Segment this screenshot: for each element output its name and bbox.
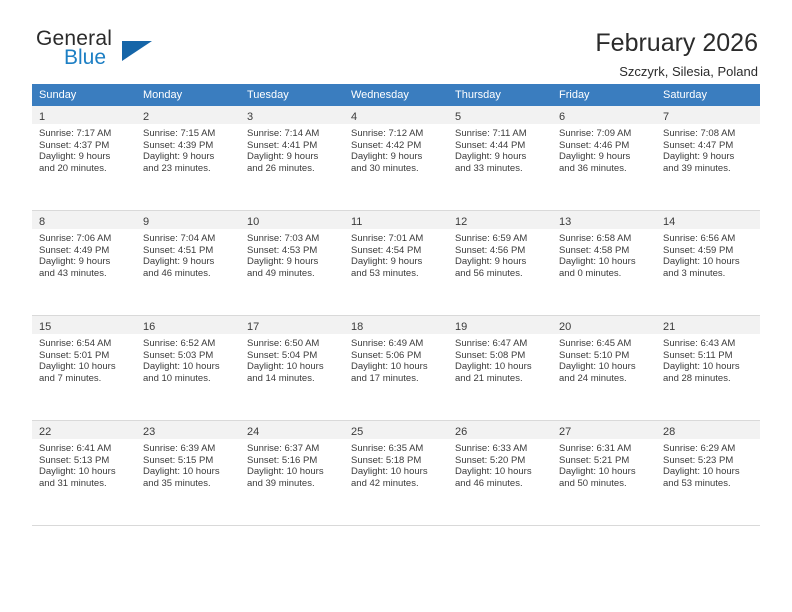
daylight-text-line2: and 30 minutes. (351, 163, 442, 175)
day-cell[interactable]: 22 Sunrise: 6:41 AM Sunset: 5:13 PM Dayl… (32, 421, 136, 526)
sunset-text: Sunset: 5:18 PM (351, 455, 442, 467)
sunrise-text: Sunrise: 7:03 AM (247, 233, 338, 245)
sunrise-text: Sunrise: 6:59 AM (455, 233, 546, 245)
day-number: 8 (39, 215, 130, 230)
calendar-table: Sunday Monday Tuesday Wednesday Thursday… (32, 84, 760, 526)
daylight-text-line2: and 7 minutes. (39, 373, 130, 385)
daylight-text-line1: Daylight: 10 hours (351, 361, 442, 373)
sunset-text: Sunset: 5:03 PM (143, 350, 234, 362)
sunset-text: Sunset: 5:21 PM (559, 455, 650, 467)
day-cell[interactable]: 17 Sunrise: 6:50 AM Sunset: 5:04 PM Dayl… (240, 316, 344, 421)
daylight-text-line2: and 39 minutes. (663, 163, 754, 175)
daylight-text-line1: Daylight: 10 hours (559, 361, 650, 373)
sunrise-text: Sunrise: 6:33 AM (455, 443, 546, 455)
daylight-text-line1: Daylight: 10 hours (143, 466, 234, 478)
sunset-text: Sunset: 5:11 PM (663, 350, 754, 362)
daylight-text-line2: and 46 minutes. (143, 268, 234, 280)
day-cell[interactable]: 1 Sunrise: 7:17 AM Sunset: 4:37 PM Dayli… (32, 106, 136, 211)
calendar-week-row: 22 Sunrise: 6:41 AM Sunset: 5:13 PM Dayl… (32, 421, 760, 526)
sunrise-text: Sunrise: 6:50 AM (247, 338, 338, 350)
calendar-week-row: 15 Sunrise: 6:54 AM Sunset: 5:01 PM Dayl… (32, 316, 760, 421)
sunrise-text: Sunrise: 7:14 AM (247, 128, 338, 140)
daylight-text-line2: and 3 minutes. (663, 268, 754, 280)
calendar-header-row: Sunday Monday Tuesday Wednesday Thursday… (32, 84, 760, 106)
daylight-text-line1: Daylight: 10 hours (39, 466, 130, 478)
day-cell[interactable]: 10 Sunrise: 7:03 AM Sunset: 4:53 PM Dayl… (240, 211, 344, 316)
day-number: 24 (247, 425, 338, 440)
day-number: 11 (351, 215, 442, 230)
sunset-text: Sunset: 5:06 PM (351, 350, 442, 362)
calendar-week-row: 8 Sunrise: 7:06 AM Sunset: 4:49 PM Dayli… (32, 211, 760, 316)
day-cell[interactable]: 19 Sunrise: 6:47 AM Sunset: 5:08 PM Dayl… (448, 316, 552, 421)
daylight-text-line2: and 36 minutes. (559, 163, 650, 175)
daylight-text-line1: Daylight: 10 hours (247, 361, 338, 373)
daylight-text-line2: and 53 minutes. (351, 268, 442, 280)
day-number: 26 (455, 425, 546, 440)
weekday-header-monday: Monday (136, 84, 240, 106)
sunrise-text: Sunrise: 7:11 AM (455, 128, 546, 140)
daylight-text-line1: Daylight: 10 hours (663, 256, 754, 268)
day-cell[interactable]: 20 Sunrise: 6:45 AM Sunset: 5:10 PM Dayl… (552, 316, 656, 421)
sunrise-text: Sunrise: 6:29 AM (663, 443, 754, 455)
day-number: 28 (663, 425, 754, 440)
sunrise-text: Sunrise: 7:06 AM (39, 233, 130, 245)
sunrise-text: Sunrise: 7:17 AM (39, 128, 130, 140)
sunset-text: Sunset: 4:39 PM (143, 140, 234, 152)
daylight-text-line1: Daylight: 10 hours (455, 466, 546, 478)
daylight-text-line1: Daylight: 10 hours (663, 361, 754, 373)
daylight-text-line2: and 26 minutes. (247, 163, 338, 175)
daylight-text-line2: and 49 minutes. (247, 268, 338, 280)
daylight-text-line1: Daylight: 10 hours (559, 256, 650, 268)
day-cell[interactable]: 23 Sunrise: 6:39 AM Sunset: 5:15 PM Dayl… (136, 421, 240, 526)
calendar-body: 1 Sunrise: 7:17 AM Sunset: 4:37 PM Dayli… (32, 106, 760, 526)
daylight-text-line2: and 50 minutes. (559, 478, 650, 490)
sunrise-text: Sunrise: 6:43 AM (663, 338, 754, 350)
sunrise-text: Sunrise: 6:37 AM (247, 443, 338, 455)
day-number: 15 (39, 320, 130, 335)
day-cell[interactable]: 9 Sunrise: 7:04 AM Sunset: 4:51 PM Dayli… (136, 211, 240, 316)
sunrise-text: Sunrise: 6:56 AM (663, 233, 754, 245)
weekday-header-sunday: Sunday (32, 84, 136, 106)
triangle-logo-icon (122, 41, 152, 61)
daylight-text-line2: and 39 minutes. (247, 478, 338, 490)
day-number: 2 (143, 110, 234, 125)
calendar-week-row: 1 Sunrise: 7:17 AM Sunset: 4:37 PM Dayli… (32, 106, 760, 211)
title-block: February 2026 Szczyrk, Silesia, Poland (595, 28, 760, 82)
sunrise-text: Sunrise: 7:15 AM (143, 128, 234, 140)
daylight-text-line2: and 28 minutes. (663, 373, 754, 385)
day-number: 12 (455, 215, 546, 230)
sunset-text: Sunset: 4:53 PM (247, 245, 338, 257)
sunrise-text: Sunrise: 6:45 AM (559, 338, 650, 350)
day-number: 3 (247, 110, 338, 125)
daylight-text-line1: Daylight: 9 hours (351, 256, 442, 268)
day-cell[interactable]: 14 Sunrise: 6:56 AM Sunset: 4:59 PM Dayl… (656, 211, 760, 316)
day-number: 22 (39, 425, 130, 440)
day-number: 25 (351, 425, 442, 440)
day-number: 9 (143, 215, 234, 230)
daylight-text-line2: and 24 minutes. (559, 373, 650, 385)
daylight-text-line1: Daylight: 9 hours (39, 256, 130, 268)
day-number: 6 (559, 110, 650, 125)
sunrise-text: Sunrise: 6:31 AM (559, 443, 650, 455)
day-cell[interactable]: 26 Sunrise: 6:33 AM Sunset: 5:20 PM Dayl… (448, 421, 552, 526)
day-cell[interactable]: 12 Sunrise: 6:59 AM Sunset: 4:56 PM Dayl… (448, 211, 552, 316)
daylight-text-line1: Daylight: 9 hours (559, 151, 650, 163)
daylight-text-line1: Daylight: 9 hours (39, 151, 130, 163)
sunset-text: Sunset: 4:54 PM (351, 245, 442, 257)
sunset-text: Sunset: 5:20 PM (455, 455, 546, 467)
day-cell[interactable]: 27 Sunrise: 6:31 AM Sunset: 5:21 PM Dayl… (552, 421, 656, 526)
page-subtitle: Szczyrk, Silesia, Poland (595, 62, 758, 82)
day-number: 10 (247, 215, 338, 230)
sunset-text: Sunset: 4:58 PM (559, 245, 650, 257)
day-number: 17 (247, 320, 338, 335)
daylight-text-line1: Daylight: 9 hours (455, 151, 546, 163)
sunset-text: Sunset: 5:15 PM (143, 455, 234, 467)
daylight-text-line2: and 56 minutes. (455, 268, 546, 280)
day-number: 27 (559, 425, 650, 440)
daylight-text-line2: and 35 minutes. (143, 478, 234, 490)
sunset-text: Sunset: 4:46 PM (559, 140, 650, 152)
sunset-text: Sunset: 4:56 PM (455, 245, 546, 257)
sunset-text: Sunset: 4:47 PM (663, 140, 754, 152)
daylight-text-line2: and 33 minutes. (455, 163, 546, 175)
day-cell[interactable]: 16 Sunrise: 6:52 AM Sunset: 5:03 PM Dayl… (136, 316, 240, 421)
sunset-text: Sunset: 5:04 PM (247, 350, 338, 362)
sunset-text: Sunset: 5:10 PM (559, 350, 650, 362)
sunrise-text: Sunrise: 6:49 AM (351, 338, 442, 350)
day-cell[interactable]: 21 Sunrise: 6:43 AM Sunset: 5:11 PM Dayl… (656, 316, 760, 421)
daylight-text-line1: Daylight: 10 hours (39, 361, 130, 373)
day-cell[interactable]: 11 Sunrise: 7:01 AM Sunset: 4:54 PM Dayl… (344, 211, 448, 316)
daylight-text-line2: and 53 minutes. (663, 478, 754, 490)
daylight-text-line1: Daylight: 10 hours (455, 361, 546, 373)
day-number: 7 (663, 110, 754, 125)
daylight-text-line2: and 20 minutes. (39, 163, 130, 175)
day-cell[interactable]: 5 Sunrise: 7:11 AM Sunset: 4:44 PM Dayli… (448, 106, 552, 211)
daylight-text-line1: Daylight: 9 hours (351, 151, 442, 163)
sunrise-text: Sunrise: 6:52 AM (143, 338, 234, 350)
day-number: 23 (143, 425, 234, 440)
sunrise-text: Sunrise: 6:54 AM (39, 338, 130, 350)
day-number: 20 (559, 320, 650, 335)
day-cell[interactable]: 3 Sunrise: 7:14 AM Sunset: 4:41 PM Dayli… (240, 106, 344, 211)
sunrise-text: Sunrise: 6:41 AM (39, 443, 130, 455)
day-cell[interactable]: 24 Sunrise: 6:37 AM Sunset: 5:16 PM Dayl… (240, 421, 344, 526)
sunrise-text: Sunrise: 6:35 AM (351, 443, 442, 455)
weekday-header-thursday: Thursday (448, 84, 552, 106)
day-number: 16 (143, 320, 234, 335)
sunrise-text: Sunrise: 6:39 AM (143, 443, 234, 455)
daylight-text-line1: Daylight: 10 hours (663, 466, 754, 478)
day-number: 21 (663, 320, 754, 335)
sunrise-text: Sunrise: 6:58 AM (559, 233, 650, 245)
daylight-text-line1: Daylight: 9 hours (247, 151, 338, 163)
sunrise-text: Sunrise: 7:12 AM (351, 128, 442, 140)
day-number: 13 (559, 215, 650, 230)
sunrise-text: Sunrise: 7:01 AM (351, 233, 442, 245)
sunset-text: Sunset: 4:41 PM (247, 140, 338, 152)
sunrise-text: Sunrise: 7:04 AM (143, 233, 234, 245)
sunset-text: Sunset: 4:51 PM (143, 245, 234, 257)
page-title: February 2026 (595, 28, 758, 58)
day-cell[interactable]: 8 Sunrise: 7:06 AM Sunset: 4:49 PM Dayli… (32, 211, 136, 316)
calendar-page: General Blue February 2026 Szczyrk, Sile… (0, 0, 792, 612)
daylight-text-line1: Daylight: 9 hours (455, 256, 546, 268)
sunset-text: Sunset: 5:13 PM (39, 455, 130, 467)
day-cell[interactable]: 28 Sunrise: 6:29 AM Sunset: 5:23 PM Dayl… (656, 421, 760, 526)
day-cell[interactable]: 18 Sunrise: 6:49 AM Sunset: 5:06 PM Dayl… (344, 316, 448, 421)
daylight-text-line1: Daylight: 9 hours (143, 256, 234, 268)
daylight-text-line2: and 31 minutes. (39, 478, 130, 490)
day-cell[interactable]: 25 Sunrise: 6:35 AM Sunset: 5:18 PM Dayl… (344, 421, 448, 526)
daylight-text-line1: Daylight: 10 hours (351, 466, 442, 478)
weekday-header-tuesday: Tuesday (240, 84, 344, 106)
sunset-text: Sunset: 4:42 PM (351, 140, 442, 152)
sunset-text: Sunset: 4:49 PM (39, 245, 130, 257)
daylight-text-line2: and 42 minutes. (351, 478, 442, 490)
daylight-text-line2: and 23 minutes. (143, 163, 234, 175)
day-cell[interactable]: 2 Sunrise: 7:15 AM Sunset: 4:39 PM Dayli… (136, 106, 240, 211)
daylight-text-line1: Daylight: 10 hours (559, 466, 650, 478)
day-number: 19 (455, 320, 546, 335)
daylight-text-line2: and 17 minutes. (351, 373, 442, 385)
daylight-text-line1: Daylight: 10 hours (247, 466, 338, 478)
sunrise-text: Sunrise: 7:08 AM (663, 128, 754, 140)
day-cell[interactable]: 15 Sunrise: 6:54 AM Sunset: 5:01 PM Dayl… (32, 316, 136, 421)
daylight-text-line2: and 14 minutes. (247, 373, 338, 385)
weekday-header-saturday: Saturday (656, 84, 760, 106)
sunrise-text: Sunrise: 7:09 AM (559, 128, 650, 140)
day-number: 5 (455, 110, 546, 125)
page-header: General Blue February 2026 Szczyrk, Sile… (32, 0, 760, 72)
sunset-text: Sunset: 5:16 PM (247, 455, 338, 467)
day-cell[interactable]: 4 Sunrise: 7:12 AM Sunset: 4:42 PM Dayli… (344, 106, 448, 211)
sunrise-text: Sunrise: 6:47 AM (455, 338, 546, 350)
daylight-text-line2: and 46 minutes. (455, 478, 546, 490)
daylight-text-line2: and 10 minutes. (143, 373, 234, 385)
sunset-text: Sunset: 4:37 PM (39, 140, 130, 152)
sunset-text: Sunset: 5:08 PM (455, 350, 546, 362)
day-number: 1 (39, 110, 130, 125)
sunset-text: Sunset: 4:44 PM (455, 140, 546, 152)
daylight-text-line1: Daylight: 10 hours (143, 361, 234, 373)
sunset-text: Sunset: 5:23 PM (663, 455, 754, 467)
daylight-text-line1: Daylight: 9 hours (663, 151, 754, 163)
daylight-text-line2: and 43 minutes. (39, 268, 130, 280)
daylight-text-line2: and 21 minutes. (455, 373, 546, 385)
day-number: 14 (663, 215, 754, 230)
day-cell[interactable]: 13 Sunrise: 6:58 AM Sunset: 4:58 PM Dayl… (552, 211, 656, 316)
daylight-text-line1: Daylight: 9 hours (247, 256, 338, 268)
daylight-text-line2: and 0 minutes. (559, 268, 650, 280)
sunset-text: Sunset: 5:01 PM (39, 350, 130, 362)
brand-logo[interactable]: General Blue (32, 28, 216, 68)
weekday-header-wednesday: Wednesday (344, 84, 448, 106)
sunset-text: Sunset: 4:59 PM (663, 245, 754, 257)
weekday-header-friday: Friday (552, 84, 656, 106)
day-number: 18 (351, 320, 442, 335)
daylight-text-line1: Daylight: 9 hours (143, 151, 234, 163)
day-cell[interactable]: 6 Sunrise: 7:09 AM Sunset: 4:46 PM Dayli… (552, 106, 656, 211)
day-cell[interactable]: 7 Sunrise: 7:08 AM Sunset: 4:47 PM Dayli… (656, 106, 760, 211)
day-number: 4 (351, 110, 442, 125)
